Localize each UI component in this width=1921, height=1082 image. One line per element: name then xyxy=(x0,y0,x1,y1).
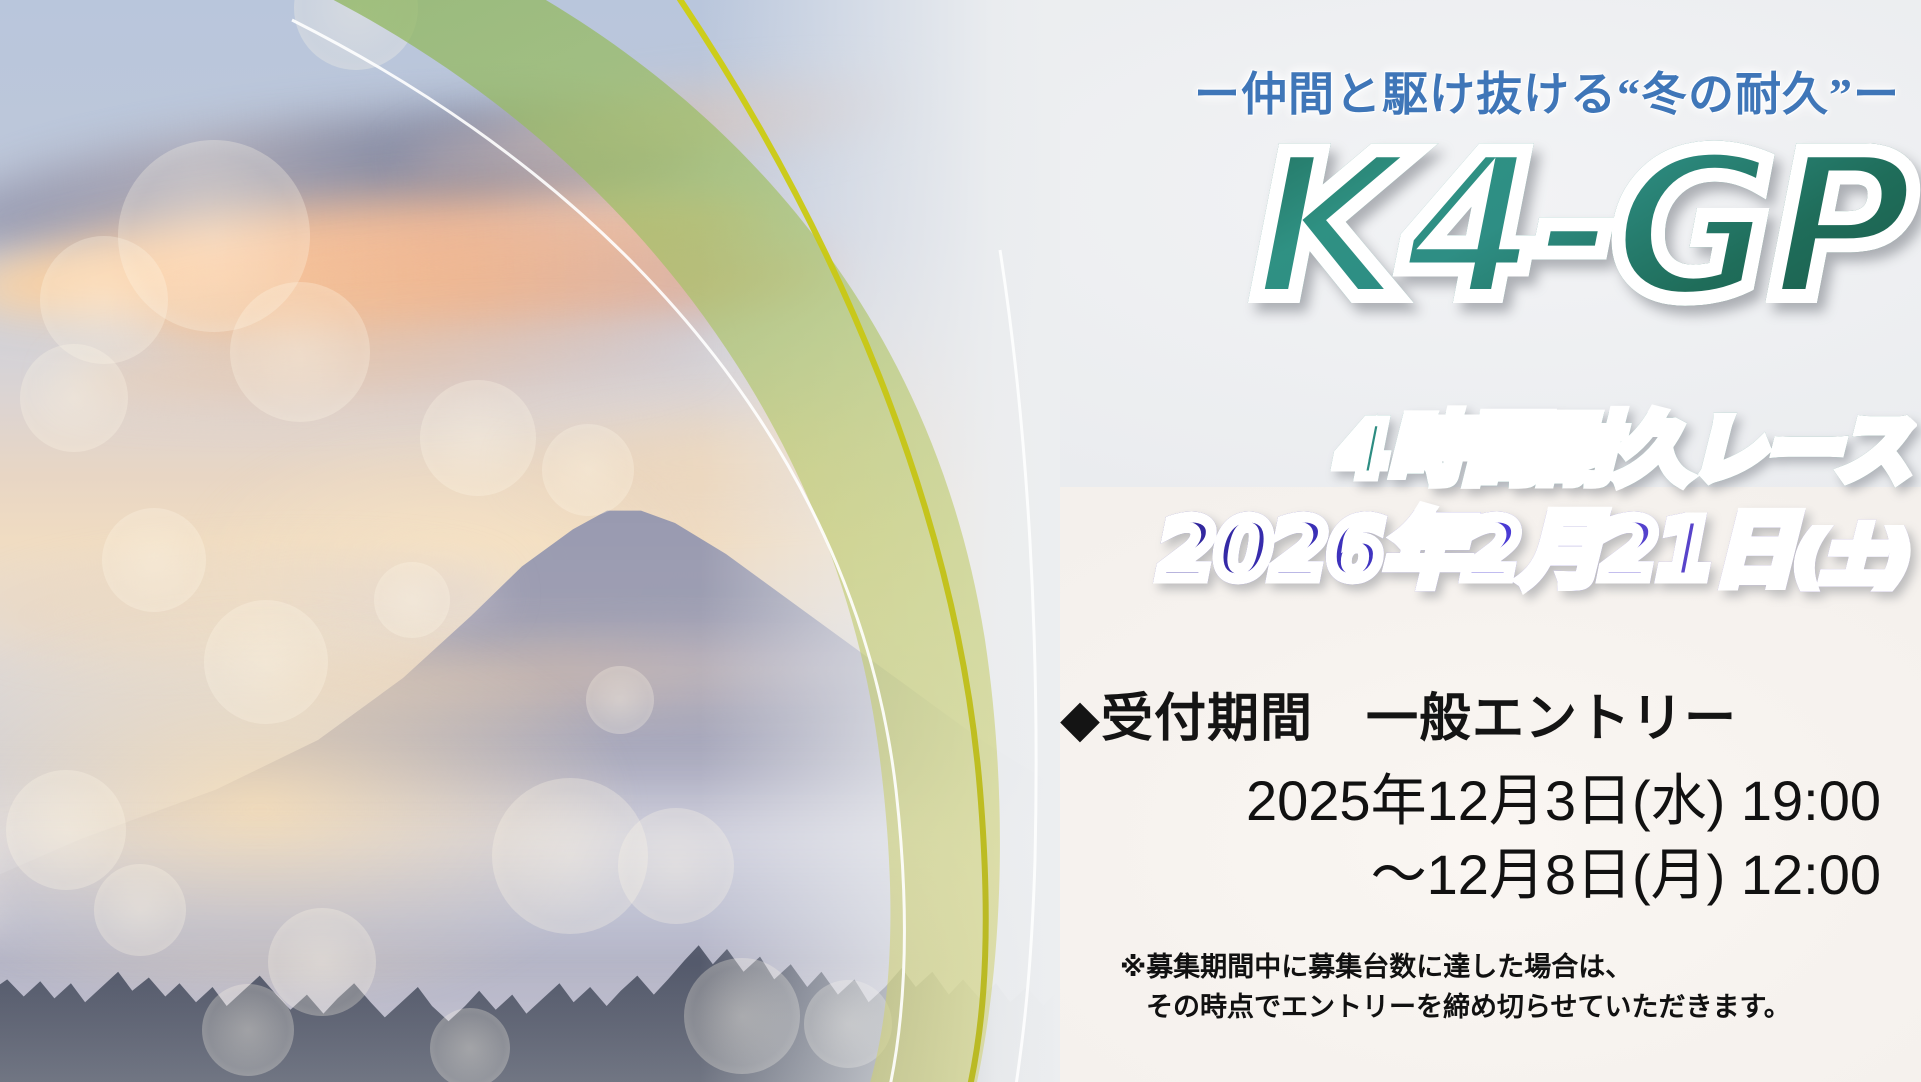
bokeh-circle xyxy=(542,424,634,516)
event-date-line: 2026年2月21日(土) xyxy=(930,510,1910,592)
bokeh-circle xyxy=(420,380,536,496)
event-date: 2026年2月21日 xyxy=(1159,503,1794,598)
k4gp-logo-title: K4-GP xyxy=(950,128,1910,328)
entry-end-datetime: 〜12月8日(月) 12:00 xyxy=(981,830,1881,911)
event-day-of-week: (土) xyxy=(1794,520,1910,593)
bokeh-circle xyxy=(20,344,128,452)
race-type-label: 4時間耐久レース xyxy=(950,412,1910,488)
mount-fuji-photo xyxy=(0,0,1060,1082)
bokeh-circle xyxy=(586,666,654,734)
entry-note: ※募集期間中に募集台数に達した場合は、 その時点でエントリーを締め切らせていただ… xyxy=(1120,948,1920,1028)
photo-bottom-fade xyxy=(0,962,1060,1082)
bokeh-circle xyxy=(374,562,450,638)
bokeh-circle xyxy=(204,600,328,724)
entry-note-line2: その時点でエントリーを締め切らせていただきます。 xyxy=(1120,988,1920,1028)
entry-period-heading: ◆受付期間 一般エントリー xyxy=(1060,676,1910,751)
poster-canvas: ー仲間と駆け抜ける“冬の耐久”ー K4-GP 4時間耐久レース 2026年2月2… xyxy=(0,0,1921,1082)
bokeh-circle xyxy=(230,282,370,422)
bokeh-circle xyxy=(94,864,186,956)
entry-note-line1: ※募集期間中に募集台数に達した場合は、 xyxy=(1120,952,1632,982)
bokeh-circle xyxy=(6,770,126,890)
entry-start-datetime: 2025年12月3日(水) 19:00 xyxy=(981,756,1881,837)
bokeh-circle xyxy=(102,508,206,612)
